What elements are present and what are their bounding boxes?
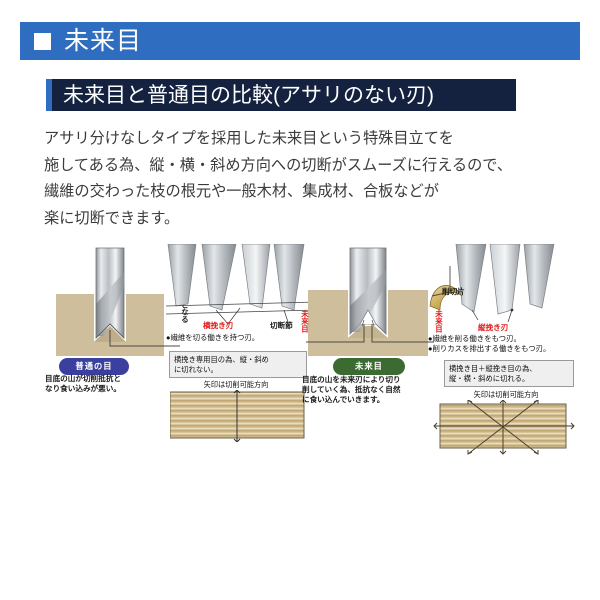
normal-tooth-caption: 目底の山が切削抵抗と なり食い込みが悪い。 (45, 374, 121, 394)
crosscut-note-line-1: 横挽き専用目の為、縦・斜め (174, 355, 302, 365)
ripcut-wood-board (432, 400, 584, 456)
page-title: 未来目 (64, 29, 142, 54)
ripcut-note-line-1: 横挽き目＋縦挽き目の為、 (449, 364, 569, 374)
infographic-page: 未来目 未来目と普通目の比較(アサリのない刃) アサリ分けなしタイプを採用した未… (0, 0, 600, 600)
ripcut-note-box: 横挽き目＋縦挽き目の為、 縦・横・斜めに切れる。 (444, 360, 574, 387)
mirai-tooth-caption: 目底の山を未来刃により切り 削していく為、抵抗なく自然 に食い込んでいきます。 (302, 375, 401, 406)
section-subtitle-bar: 未来目と普通目の比較(アサリのない刃) (46, 79, 516, 111)
filled-square-icon (34, 33, 51, 50)
ripcut-arrow-note: 矢印は切削可能方向 (436, 390, 576, 400)
crosscut-arrow-note: 矢印は切削可能方向 (169, 380, 303, 390)
lead-line-2: 施してある為、縦・横・斜め方向への切断がスムーズに行えるので、 (44, 153, 564, 180)
badge-normal-tooth: 普通の目 (59, 358, 129, 375)
crosscut-wood-board (170, 390, 310, 442)
section-subtitle: 未来目と普通目の比較(アサリのない刃) (63, 85, 434, 106)
ripcut-note-line-2: 縦・横・斜めに切れる。 (449, 374, 569, 384)
crosscut-note-box: 横挽き専用目の為、縦・斜め に切れない。 (169, 351, 307, 378)
crosscut-blade-diagram (166, 244, 316, 334)
panel-ripcut: 削切片 縦挽き刃 ●繊維を削る働きをもつ刃。 ●削りカスを排出する働きをもつ刃。… (428, 244, 596, 439)
lead-line-1: アサリ分けなしタイプを採用した未来目という特殊目立てを (44, 126, 564, 153)
subtitle-accent-stripe (46, 79, 52, 111)
crosscut-note-line-2: に切れない。 (174, 365, 302, 375)
badge-mirai-tooth: 未来目 (333, 358, 405, 375)
crosscut-blade-label: 横挽き刃 (203, 320, 233, 331)
ripcut-bullet-2: ●削りカスを排出する働きをもつ刃。 (428, 344, 550, 354)
ripcut-bullets: ●繊維を削る働きをもつ刃。 ●削りカスを排出する働きをもつ刃。 (428, 334, 550, 355)
lead-line-4: 楽に切断できます。 (44, 206, 564, 233)
normal-caption-line-1: 目底の山が切削抵抗と (45, 374, 121, 384)
lead-paragraph: アサリ分けなしタイプを採用した未来目という特殊目立てを 施してある為、縦・横・斜… (44, 126, 564, 232)
ripcut-bullet-1: ●繊維を削る働きをもつ刃。 (428, 334, 550, 344)
mirai-side-label-left: 未来目 (300, 310, 308, 332)
crosscut-bullet-1: ●繊維を切る働きを持つ刃。 (166, 333, 259, 343)
cut-node-label: 切断節 (270, 320, 293, 331)
mirai-caption-line-3: に食い込んでいきます。 (302, 395, 401, 405)
mirai-caption-line-2: 削していく為、抵抗なく自然 (302, 385, 401, 395)
normal-caption-line-2: なり食い込みが悪い。 (45, 384, 121, 394)
lead-line-3: 繊維の交わった枝の根元や一般木材、集成材、合板などが (44, 179, 564, 206)
mirai-caption-line-1: 目底の山を未来刃により切り (302, 375, 401, 385)
chip-label: 削切片 (442, 286, 465, 297)
ripcut-blade-label: 縦挽き刃 (478, 322, 508, 333)
panel-crosscut: 横挽き刃 切断節 ●繊維を切る働きを持つ刃。 横挽き専用目の為、縦・斜め に切れ… (166, 244, 316, 434)
crosscut-bullets: ●繊維を切る働きを持つ刃。 (166, 333, 259, 343)
page-title-bar: 未来目 (20, 22, 580, 60)
